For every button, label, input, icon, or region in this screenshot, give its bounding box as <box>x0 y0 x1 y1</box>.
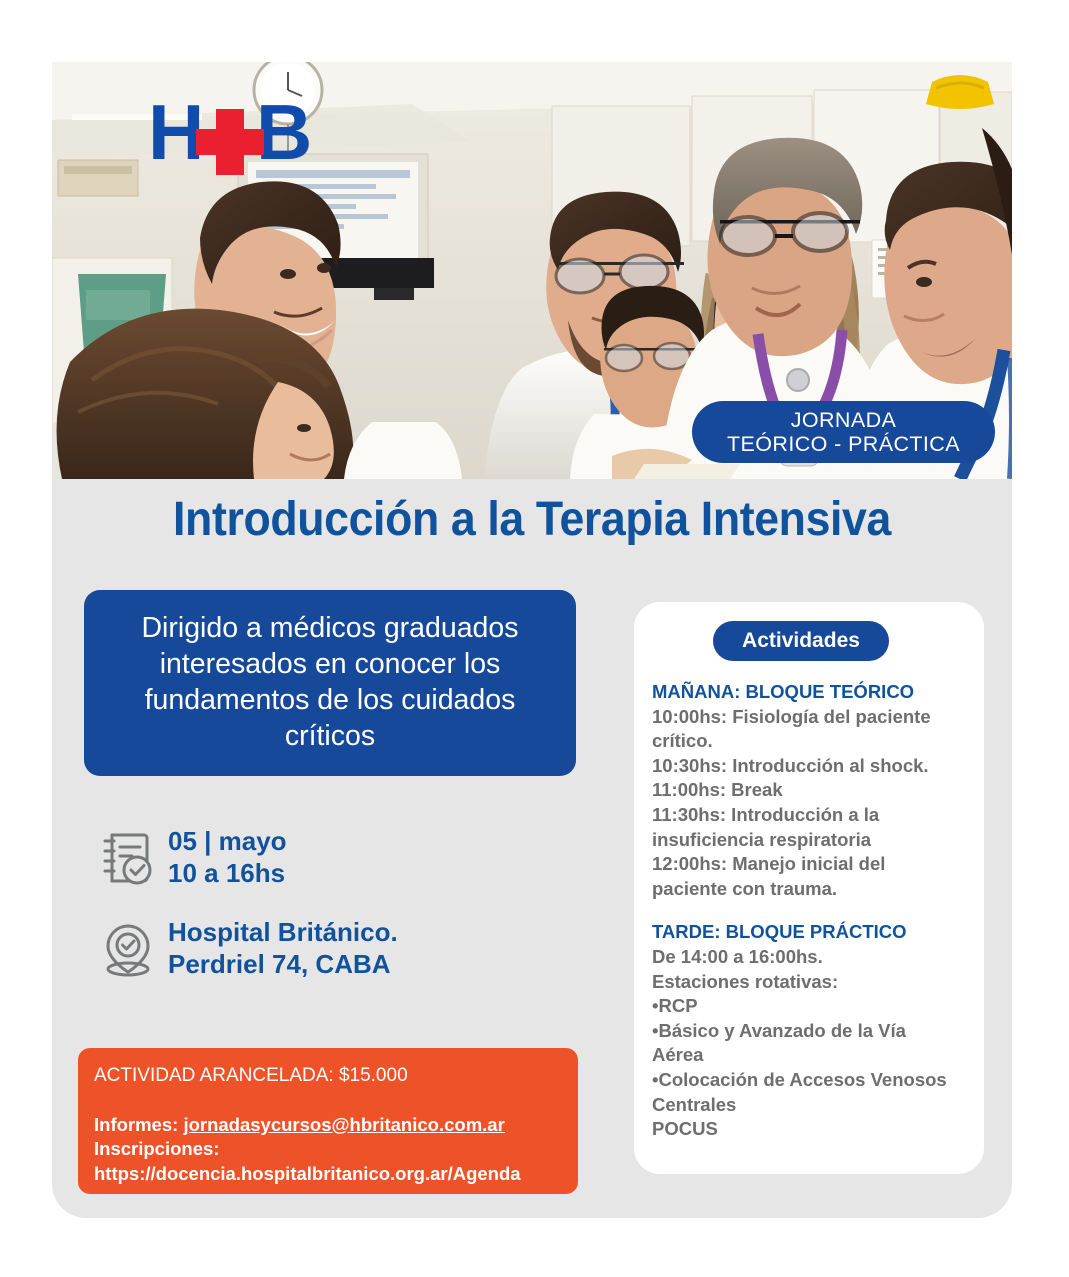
page-title: Introducción a la Terapia Intensiva <box>86 492 979 547</box>
agenda-line: Centrales <box>652 1093 970 1118</box>
contact-text: Informes: jornadasycursos@hbritanico.com… <box>94 1113 564 1186</box>
agenda-line: paciente con trauma. <box>652 877 970 902</box>
svg-text:H: H <box>148 95 204 175</box>
agenda-line: 11:00hs: Break <box>652 778 970 803</box>
date-line1: 05 | mayo <box>168 826 287 856</box>
agenda-line: •Básico y Avanzado de la Vía <box>652 1019 970 1044</box>
location-row: Hospital Británico. Perdriel 74, CABA <box>100 917 600 980</box>
svg-text:B: B <box>256 95 312 175</box>
agenda-line: crítico. <box>652 729 970 754</box>
audience-text: Dirigido a médicos graduados interesados… <box>104 611 556 755</box>
location-text: Hospital Británico. Perdriel 74, CABA <box>168 917 398 980</box>
agenda-morning-lines: 10:00hs: Fisiología del paciente crítico… <box>652 705 970 902</box>
agenda-line: •Colocación de Accesos Venosos <box>652 1068 970 1093</box>
agenda-line: 12:00hs: Manejo inicial del <box>652 852 970 877</box>
agenda-line: 11:30hs: Introducción a la <box>652 803 970 828</box>
badge-jornada-line1: JORNADA <box>791 408 897 432</box>
hospital-britanico-logo: H B <box>148 95 328 175</box>
agenda-line: Aérea <box>652 1043 970 1068</box>
agenda-afternoon-heading: TARDE: BLOQUE PRÁCTICO <box>652 920 970 945</box>
agenda-line: De 14:00 a 16:00hs. <box>652 945 970 970</box>
badge-actividades: Actividades <box>713 621 889 661</box>
event-details: 05 | mayo 10 a 16hs Hospital Británico. … <box>100 826 600 1009</box>
inscripciones-url-link[interactable]: https://docencia.hospitalbritanico.org.a… <box>94 1163 521 1184</box>
date-line2: 10 a 16hs <box>168 858 285 888</box>
agenda-line: •RCP <box>652 994 970 1019</box>
informes-email-link[interactable]: jornadasycursos@hbritanico.com.ar <box>183 1114 504 1135</box>
agenda-afternoon-lines: De 14:00 a 16:00hs. Estaciones rotativas… <box>652 945 970 1142</box>
audience-box: Dirigido a médicos graduados interesados… <box>84 590 576 776</box>
location-pin-icon <box>100 920 156 978</box>
calendar-clock-icon <box>100 829 156 887</box>
inscripciones-label: Inscripciones: <box>94 1138 219 1159</box>
agenda-spacer <box>652 901 970 920</box>
agenda-line: POCUS <box>652 1117 970 1142</box>
agenda-line: Estaciones rotativas: <box>652 970 970 995</box>
activities-panel: Actividades MAÑANA: BLOQUE TEÓRICO 10:00… <box>634 602 984 1174</box>
fee-text: ACTIVIDAD ARANCELADA: $15.000 <box>94 1064 564 1089</box>
fees-contact-box: ACTIVIDAD ARANCELADA: $15.000 Informes: … <box>78 1048 578 1194</box>
badge-actividades-label: Actividades <box>742 629 860 653</box>
agenda-line: 10:30hs: Introducción al shock. <box>652 754 970 779</box>
agenda-morning-heading: MAÑANA: BLOQUE TEÓRICO <box>652 680 970 705</box>
badge-jornada-text: JORNADATEÓRICO - PRÁCTICA <box>727 408 960 457</box>
informes-label: Informes: <box>94 1114 183 1135</box>
location-line2: Perdriel 74, CABA <box>168 949 391 979</box>
agenda-list: MAÑANA: BLOQUE TEÓRICO 10:00hs: Fisiolog… <box>652 680 970 1142</box>
date-text: 05 | mayo 10 a 16hs <box>168 826 287 889</box>
date-row: 05 | mayo 10 a 16hs <box>100 826 600 889</box>
agenda-line: insuficiencia respiratoria <box>652 828 970 853</box>
location-line1: Hospital Británico. <box>168 917 398 947</box>
agenda-line: 10:00hs: Fisiología del paciente <box>652 705 970 730</box>
badge-jornada: JORNADATEÓRICO - PRÁCTICA <box>692 401 995 463</box>
poster-root: H B JORNADATEÓRICO - PRÁCTICA Introducci… <box>0 0 1069 1277</box>
badge-jornada-line2: TEÓRICO - PRÁCTICA <box>727 432 960 456</box>
